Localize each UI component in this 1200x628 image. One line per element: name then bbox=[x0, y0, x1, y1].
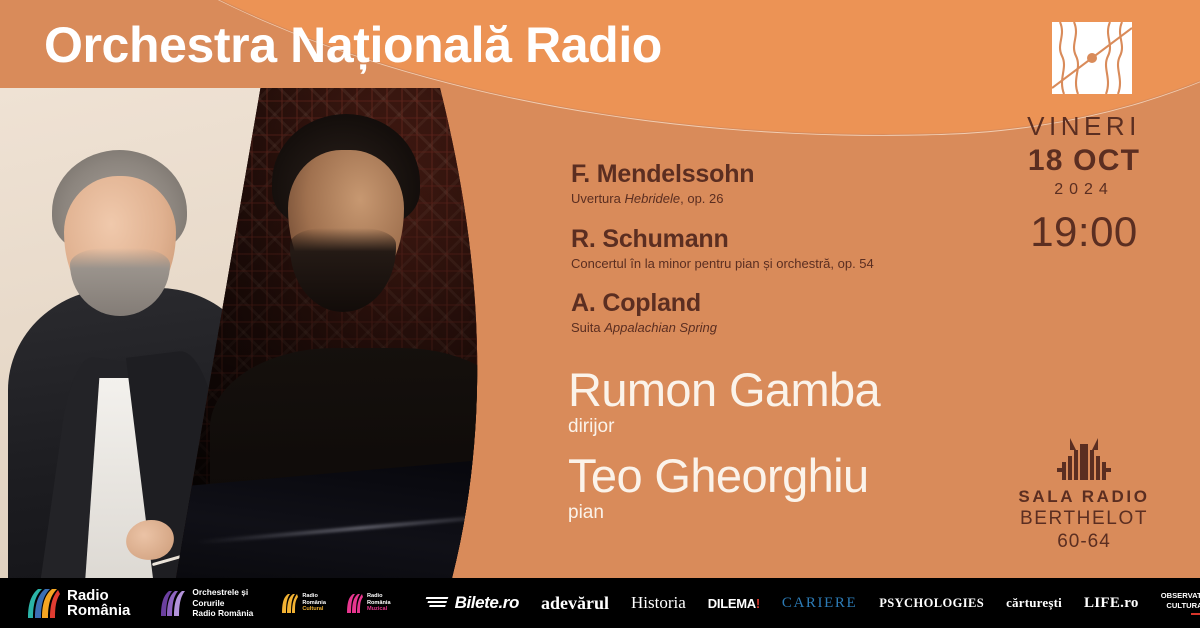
venue-block: SALA RADIO BERTHELOT 60-64 bbox=[968, 438, 1200, 554]
sponsor-radio-romania-cultural[interactable]: Radio România Cultural bbox=[253, 578, 326, 628]
sponsor-adevarul[interactable]: adevărul bbox=[519, 578, 609, 628]
sponsor-line-1: Radio bbox=[67, 588, 130, 603]
sponsor-line-1: Orchestrele și bbox=[192, 587, 253, 598]
venue-street: BERTHELOT bbox=[968, 508, 1200, 531]
sponsor-label: Radio România Cultural bbox=[302, 593, 326, 613]
orchestrele-wave-icon bbox=[160, 590, 186, 616]
sponsor-label: PSYCHOLOGIES bbox=[879, 596, 984, 611]
sponsor-line-1: Radio bbox=[367, 593, 391, 600]
concert-poster: Orchestra Națională Radio F. Mend bbox=[0, 0, 1200, 578]
artist-role-conductor: dirijor bbox=[568, 417, 880, 438]
sponsor-psychologies[interactable]: PSYCHOLOGIES bbox=[857, 578, 984, 628]
cultural-wave-icon bbox=[281, 593, 298, 613]
work-italic-title: Appalachian Spring bbox=[604, 320, 717, 335]
page-title: Orchestra Națională Radio bbox=[44, 18, 662, 73]
sponsor-line-3: Muzical bbox=[367, 606, 391, 613]
sponsor-line-1: Radio bbox=[302, 593, 326, 600]
sponsor-label: Historia bbox=[631, 593, 686, 613]
sponsor-label: cărturești bbox=[1006, 595, 1062, 611]
sponsor-label: Orchestrele și Corurile Radio România bbox=[192, 587, 253, 619]
work-suffix: , op. 26 bbox=[680, 191, 723, 206]
program-item: R. Schumann Concertul în la minor pentru… bbox=[571, 225, 874, 272]
event-weekday: VINERI bbox=[968, 110, 1200, 143]
sponsor-label: Radio România bbox=[67, 588, 130, 619]
sponsor-observator-cultural[interactable]: OBSERVATOR CULTURAL bbox=[1139, 578, 1200, 628]
work-title: Suita Appalachian Spring bbox=[571, 320, 874, 336]
sponsor-line-1: OBSERVATOR bbox=[1161, 591, 1200, 601]
composer-name: A. Copland bbox=[571, 289, 874, 317]
event-time: 19:00 bbox=[968, 206, 1200, 259]
sponsor-line-2: România bbox=[367, 600, 391, 607]
sala-radio-logo bbox=[1053, 438, 1115, 480]
venue-name: SALA RADIO bbox=[968, 487, 1200, 507]
event-day-month: 18 OCT bbox=[968, 143, 1200, 178]
sponsor-cariere[interactable]: CARIERE bbox=[760, 578, 857, 628]
sponsor-line-2: Corurile bbox=[192, 598, 253, 609]
sponsor-life-ro[interactable]: LIFE.ro bbox=[1062, 578, 1139, 628]
artist-credits: Rumon Gamba dirijor Teo Gheorghiu pian bbox=[568, 366, 880, 538]
event-date-block: VINERI 18 OCT 2024 19:00 bbox=[968, 110, 1200, 258]
sponsor-radio-romania[interactable]: Radio România bbox=[0, 578, 130, 628]
sponsor-dilema[interactable]: DILEMA! bbox=[686, 578, 760, 628]
sponsor-orchestrele-corurile[interactable]: Orchestrele și Corurile Radio România bbox=[130, 578, 253, 628]
sponsor-radio-romania-muzical[interactable]: Radio România Muzical bbox=[326, 578, 391, 628]
sponsor-bilete-ro[interactable]: Bilete.ro bbox=[391, 578, 519, 628]
artist-name-conductor: Rumon Gamba bbox=[568, 366, 880, 415]
work-prefix: Suita bbox=[571, 320, 604, 335]
observator-accent-bar bbox=[1191, 613, 1200, 616]
sponsor-label: DILEMA bbox=[708, 596, 756, 611]
bilete-lines-icon bbox=[425, 595, 451, 611]
program-item: A. Copland Suita Appalachian Spring bbox=[571, 289, 874, 336]
work-title: Uvertura Hebridele, op. 26 bbox=[571, 191, 874, 207]
sponsor-carturesti[interactable]: cărturești bbox=[984, 578, 1062, 628]
work-prefix: Concertul în la minor pentru pian și orc… bbox=[571, 256, 874, 271]
artist-role-pianist: pian bbox=[568, 503, 880, 524]
sponsor-line-3: Cultural bbox=[302, 606, 326, 613]
artist-photo-montage bbox=[0, 88, 560, 578]
artist-name-pianist: Teo Gheorghiu bbox=[568, 452, 880, 501]
orchestra-waves-logo bbox=[1052, 22, 1132, 94]
sponsor-bar: Radio România Orchestrele și Corurile Ra… bbox=[0, 578, 1200, 628]
sponsor-historia[interactable]: Historia bbox=[609, 578, 686, 628]
sponsor-label: LIFE.ro bbox=[1084, 595, 1139, 612]
event-year: 2024 bbox=[968, 178, 1200, 202]
sponsor-label: CARIERE bbox=[782, 595, 857, 612]
sponsor-label: OBSERVATOR CULTURAL bbox=[1161, 591, 1200, 615]
sponsor-line-2: CULTURAL bbox=[1161, 601, 1200, 611]
work-prefix: Uvertura bbox=[571, 191, 624, 206]
composer-name: R. Schumann bbox=[571, 225, 874, 253]
sponsor-label: Radio România Muzical bbox=[367, 593, 391, 613]
program-item: F. Mendelssohn Uvertura Hebridele, op. 2… bbox=[571, 160, 874, 207]
sponsor-line-2: România bbox=[302, 600, 326, 607]
radio-romania-wave-icon bbox=[26, 588, 60, 618]
muzical-wave-icon bbox=[346, 593, 363, 613]
composer-name: F. Mendelssohn bbox=[571, 160, 874, 188]
sponsor-label: Bilete.ro bbox=[455, 593, 519, 613]
sponsor-label: adevărul bbox=[541, 593, 609, 614]
work-italic-title: Hebridele bbox=[624, 191, 680, 206]
program-list: F. Mendelssohn Uvertura Hebridele, op. 2… bbox=[571, 160, 874, 354]
work-title: Concertul în la minor pentru pian și orc… bbox=[571, 256, 874, 272]
sponsor-line-2: România bbox=[67, 603, 130, 618]
venue-number: 60-64 bbox=[968, 531, 1200, 554]
sponsor-line-3: Radio România bbox=[192, 608, 253, 619]
